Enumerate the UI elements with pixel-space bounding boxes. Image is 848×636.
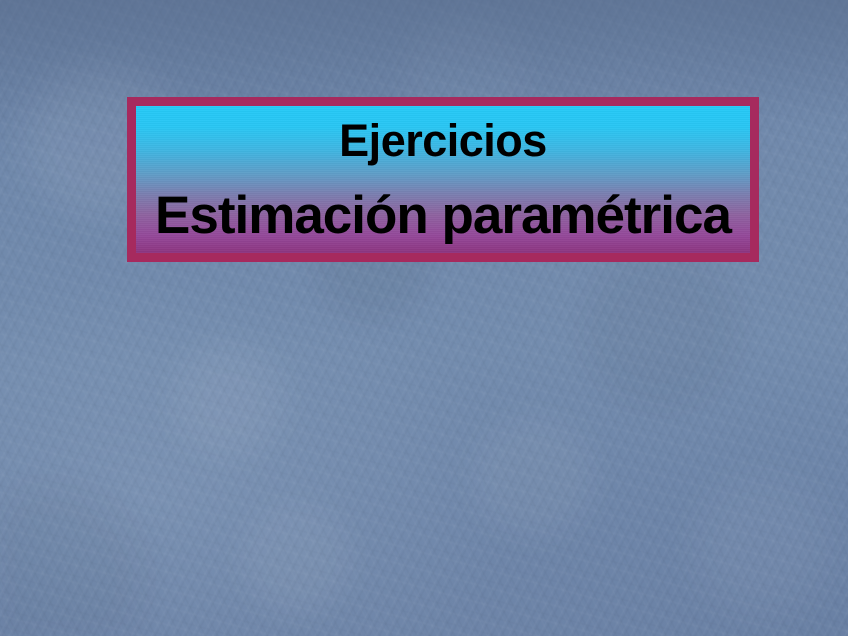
title-line-primary: Ejercicios [339, 117, 547, 164]
title-box: Ejercicios Estimación paramétrica [127, 97, 759, 262]
title-line-secondary: Estimación paramétrica [155, 188, 731, 244]
presentation-slide: Ejercicios Estimación paramétrica [0, 0, 848, 636]
